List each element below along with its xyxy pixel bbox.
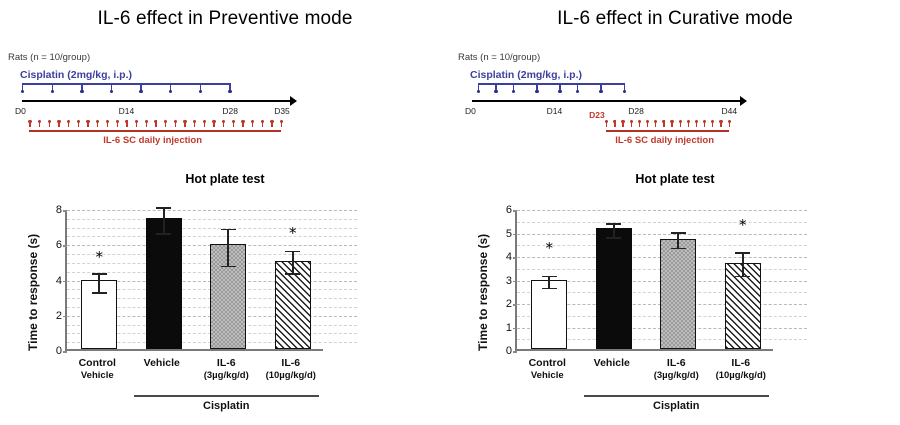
il6-injection-dot-icon	[638, 120, 641, 123]
panel-title-preventive: IL-6 effect in Preventive mode	[0, 8, 450, 30]
chart-y-tick-label: 6	[42, 239, 62, 251]
il6-injection-dot-icon	[67, 120, 70, 123]
x-axis-label-2: Vehicle	[594, 357, 630, 370]
timeline-day-label-d14: D14	[547, 106, 563, 116]
x-axis-label-line1: Control	[79, 357, 116, 369]
x-axis-label-4: IL-6(10µg/kg/d)	[266, 357, 316, 382]
chart-preventive: Hot plate testTime to response (s)02468*…	[0, 172, 450, 425]
chart-y-tick-mark	[513, 257, 517, 259]
chart-y-tick-label: 2	[492, 298, 512, 310]
significance-star-4: *	[739, 218, 747, 233]
bar-1	[531, 280, 567, 349]
error-bar-1	[548, 276, 550, 288]
il6-injection-dot-icon	[174, 120, 177, 123]
il6-injection-dot-icon	[630, 120, 633, 123]
il6-underline	[29, 130, 281, 132]
cisplatin-group-label: Cisplatin	[653, 400, 699, 412]
il6-injection-dot-icon	[38, 120, 41, 123]
il6-injection-dot-icon	[719, 120, 722, 123]
timeline-axis-arrow-icon	[740, 96, 747, 106]
chart-y-tick-label: 6	[492, 204, 512, 216]
panel-preventive: IL-6 effect in Preventive mode Rats (n =…	[0, 0, 450, 425]
chart-y-axis-label: Time to response (s)	[476, 234, 490, 351]
timeline-cisplatin-markers	[22, 83, 229, 97]
error-bar-2	[163, 207, 165, 233]
il6-injection-dot-icon	[703, 120, 706, 123]
error-bar-cap-top-3	[221, 229, 236, 231]
il6-injection-dot-icon	[687, 120, 690, 123]
il6-injection-dot-icon	[646, 120, 649, 123]
cisplatin-marker-bar	[478, 83, 624, 85]
cisplatin-injection-dot-icon	[110, 90, 113, 93]
chart-y-tick-mark	[513, 210, 517, 212]
chart-y-tick-mark	[63, 245, 67, 247]
il6-injection-dot-icon	[662, 120, 665, 123]
x-axis-label-line1: Control	[529, 357, 566, 369]
timeline-rats-note: Rats (n = 10/group)	[8, 52, 90, 63]
timeline-day-label-d0: D0	[465, 106, 476, 116]
error-bar-cap-bottom-2	[156, 233, 171, 235]
cisplatin-group-label: Cisplatin	[203, 400, 249, 412]
x-axis-label-line2: (3µg/kg/d)	[654, 370, 699, 382]
chart-y-tick-label: 3	[492, 275, 512, 287]
x-axis-label-2: Vehicle	[144, 357, 180, 370]
il6-injection-dot-icon	[164, 120, 167, 123]
chart-plot-area: 02468**	[65, 210, 323, 351]
timeline-rats-note: Rats (n = 10/group)	[458, 52, 540, 63]
x-axis-label-4: IL-6(10µg/kg/d)	[716, 357, 766, 382]
timeline-curative: Rats (n = 10/group)Cisplatin (2mg/kg, i.…	[458, 52, 758, 167]
il6-injection-dot-icon	[280, 120, 283, 123]
timeline-day-label-d35: D35	[274, 106, 290, 116]
il6-injection-dot-icon	[270, 120, 273, 123]
cisplatin-injection-dot-icon	[558, 90, 561, 93]
error-bar-3	[227, 229, 229, 266]
cisplatin-injection-dot-icon	[512, 90, 515, 93]
il6-injection-dot-icon	[57, 120, 60, 123]
il6-injection-dot-icon	[106, 120, 109, 123]
error-bar-4	[742, 252, 744, 276]
timeline-axis	[472, 100, 740, 102]
chart-y-tick-mark	[513, 328, 517, 330]
il6-injection-dot-icon	[695, 120, 698, 123]
il6-injection-dot-icon	[728, 120, 731, 123]
timeline-day-label-d0: D0	[15, 106, 26, 116]
il6-injection-dot-icon	[183, 120, 186, 123]
timeline-cisplatin-label: Cisplatin (2mg/kg, i.p.)	[470, 69, 582, 81]
cisplatin-injection-dot-icon	[599, 90, 602, 93]
timeline-day-label-d28: D28	[628, 106, 644, 116]
il6-injection-dot-icon	[28, 120, 31, 123]
x-axis-label-line1: Vehicle	[594, 357, 630, 369]
chart-y-tick-label: 4	[492, 251, 512, 263]
x-axis-label-line2: (10µg/kg/d)	[716, 370, 766, 382]
chart-plot-area: 0123456**	[515, 210, 773, 351]
chart-gridline	[67, 210, 357, 211]
cisplatin-injection-dot-icon	[228, 90, 231, 93]
x-axis-label-1: ControlVehicle	[79, 357, 116, 382]
il6-injection-dot-icon	[679, 120, 682, 123]
il6-injection-dot-icon	[203, 120, 206, 123]
cisplatin-injection-dot-icon	[51, 90, 54, 93]
error-bar-1	[98, 273, 100, 292]
chart-y-tick-label: 0	[42, 345, 62, 357]
il6-injection-dot-icon	[116, 120, 119, 123]
chart-curative: Hot plate testTime to response (s)012345…	[450, 172, 900, 425]
il6-injection-dot-icon	[193, 120, 196, 123]
timeline-day-label-d28: D28	[222, 106, 238, 116]
il6-injection-dot-icon	[251, 120, 254, 123]
chart-y-axis-label: Time to response (s)	[26, 234, 40, 351]
chart-y-tick-label: 2	[42, 310, 62, 322]
panel-title-curative: IL-6 effect in Curative mode	[450, 8, 900, 30]
il6-injection-dot-icon	[241, 120, 244, 123]
significance-star-1: *	[546, 241, 554, 256]
cisplatin-injection-dot-icon	[169, 90, 172, 93]
chart-y-tick-label: 8	[42, 204, 62, 216]
error-bar-cap-bottom-1	[542, 288, 557, 290]
cisplatin-injection-dot-icon	[623, 90, 626, 93]
il6-injection-dot-icon	[232, 120, 235, 123]
chart-y-tick-mark	[513, 351, 517, 353]
error-bar-2	[613, 223, 615, 237]
x-axis-label-1: ControlVehicle	[529, 357, 566, 382]
error-bar-cap-bottom-4	[285, 273, 300, 275]
timeline-axis	[22, 100, 290, 102]
error-bar-cap-bottom-2	[606, 237, 621, 239]
error-bar-cap-top-3	[671, 232, 686, 234]
x-axis-label-3: IL-6(3µg/kg/d)	[654, 357, 699, 382]
il6-underline	[606, 130, 728, 132]
cisplatin-group-bracket	[584, 395, 769, 397]
chart-y-tick-mark	[63, 316, 67, 318]
chart-y-tick-label: 0	[492, 345, 512, 357]
il6-injection-dot-icon	[222, 120, 225, 123]
x-axis-label-line1: IL-6	[217, 357, 236, 369]
chart-gridline	[67, 228, 357, 229]
timeline-il6-label: IL-6 SC daily injection	[103, 135, 202, 146]
il6-injection-dot-icon	[605, 120, 608, 123]
il6-injection-dot-icon	[145, 120, 148, 123]
timeline-cisplatin-label: Cisplatin (2mg/kg, i.p.)	[20, 69, 132, 81]
error-bar-cap-top-4	[285, 251, 300, 253]
cisplatin-injection-dot-icon	[21, 90, 24, 93]
x-axis-label-line1: IL-6	[731, 357, 750, 369]
x-axis-label-3: IL-6(3µg/kg/d)	[204, 357, 249, 382]
timeline-il6-markers	[606, 120, 728, 130]
bar-2	[146, 218, 182, 349]
il6-injection-dot-icon	[125, 120, 128, 123]
cisplatin-marker-bar	[22, 83, 229, 85]
error-bar-cap-top-1	[542, 276, 557, 278]
chart-y-tick-mark	[513, 281, 517, 283]
cisplatin-injection-dot-icon	[199, 90, 202, 93]
bar-3	[660, 239, 696, 349]
error-bar-cap-top-2	[606, 223, 621, 225]
error-bar-4	[292, 251, 294, 274]
x-axis-label-line2: Vehicle	[79, 370, 116, 382]
chart-gridline	[517, 210, 807, 211]
il6-injection-dot-icon	[77, 120, 80, 123]
chart-title: Hot plate test	[450, 172, 900, 186]
il6-injection-dot-icon	[613, 120, 616, 123]
panel-curative: IL-6 effect in Curative mode Rats (n = 1…	[450, 0, 900, 425]
cisplatin-group-bracket	[134, 395, 319, 397]
chart-y-tick-label: 1	[492, 322, 512, 334]
chart-y-tick-label: 5	[492, 228, 512, 240]
timeline-il6-label: IL-6 SC daily injection	[615, 135, 714, 146]
chart-gridline	[67, 219, 357, 220]
bar-2	[596, 228, 632, 349]
timeline-il6-markers	[29, 120, 281, 130]
chart-title: Hot plate test	[0, 172, 450, 186]
il6-injection-dot-icon	[212, 120, 215, 123]
cisplatin-injection-dot-icon	[535, 90, 538, 93]
chart-gridline	[517, 234, 807, 235]
error-bar-cap-bottom-3	[671, 248, 686, 250]
cisplatin-injection-dot-icon	[139, 90, 142, 93]
il6-injection-dot-icon	[154, 120, 157, 123]
error-bar-cap-top-1	[92, 273, 107, 275]
cisplatin-injection-dot-icon	[576, 90, 579, 93]
error-bar-cap-top-2	[156, 207, 171, 209]
timeline-preventive: Rats (n = 10/group)Cisplatin (2mg/kg, i.…	[8, 52, 308, 167]
chart-gridline	[517, 222, 807, 223]
timeline-day-label-d44: D44	[722, 106, 738, 116]
chart-y-tick-mark	[513, 234, 517, 236]
il6-injection-dot-icon	[86, 120, 89, 123]
x-axis-label-line2: (3µg/kg/d)	[204, 370, 249, 382]
timeline-il6-start-label: D23	[589, 110, 605, 120]
x-axis-label-line1: IL-6	[667, 357, 686, 369]
significance-star-4: *	[289, 226, 297, 241]
chart-y-tick-mark	[63, 210, 67, 212]
il6-injection-dot-icon	[670, 120, 673, 123]
error-bar-cap-bottom-4	[735, 276, 750, 278]
il6-injection-dot-icon	[135, 120, 138, 123]
significance-star-1: *	[96, 250, 104, 265]
error-bar-cap-bottom-3	[221, 266, 236, 268]
x-axis-label-line1: IL-6	[281, 357, 300, 369]
il6-injection-dot-icon	[711, 120, 714, 123]
chart-y-tick-mark	[63, 281, 67, 283]
il6-injection-dot-icon	[96, 120, 99, 123]
chart-y-tick-mark	[63, 351, 67, 353]
error-bar-3	[677, 232, 679, 247]
chart-y-tick-mark	[513, 304, 517, 306]
il6-injection-dot-icon	[654, 120, 657, 123]
il6-injection-dot-icon	[48, 120, 51, 123]
chart-gridline	[67, 236, 357, 237]
timeline-day-label-d14: D14	[119, 106, 135, 116]
il6-injection-dot-icon	[261, 120, 264, 123]
cisplatin-injection-dot-icon	[477, 90, 480, 93]
cisplatin-injection-dot-icon	[494, 90, 497, 93]
timeline-cisplatin-markers	[478, 83, 624, 97]
x-axis-label-line2: (10µg/kg/d)	[266, 370, 316, 382]
x-axis-label-line1: Vehicle	[144, 357, 180, 369]
x-axis-label-line2: Vehicle	[529, 370, 566, 382]
timeline-axis-arrow-icon	[290, 96, 297, 106]
il6-injection-dot-icon	[621, 120, 624, 123]
cisplatin-injection-dot-icon	[80, 90, 83, 93]
error-bar-cap-top-4	[735, 252, 750, 254]
chart-y-tick-label: 4	[42, 275, 62, 287]
error-bar-cap-bottom-1	[92, 292, 107, 294]
